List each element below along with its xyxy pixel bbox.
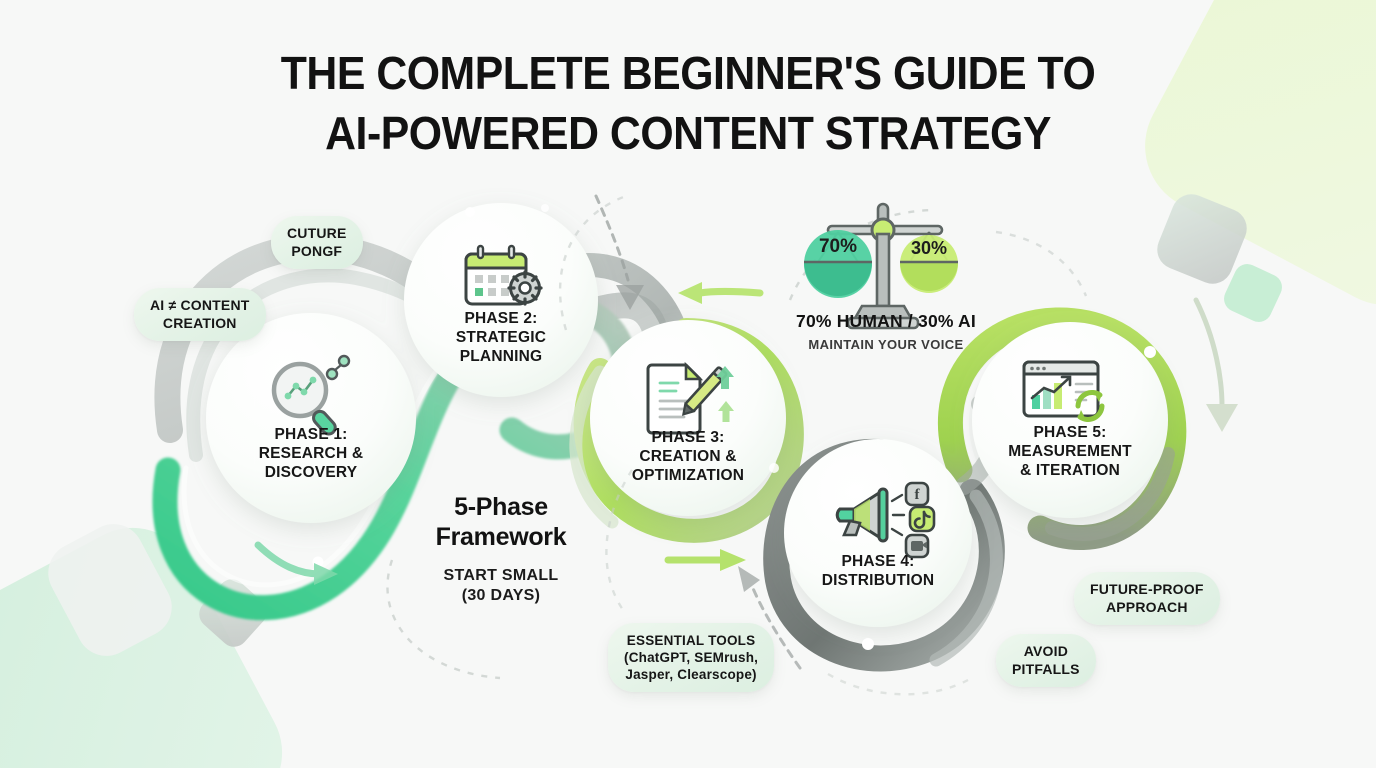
calendar-gear-icon <box>466 246 541 304</box>
phase-3-label[interactable]: PHASE 3: CREATION & OPTIMIZATION <box>593 429 783 486</box>
chip-cuture-line-1: CUTURE <box>287 225 347 243</box>
phase-5-line-1: PHASE 5: <box>975 424 1165 443</box>
document-pencil-icon <box>648 365 734 433</box>
chip-cuture-line-2: PONGF <box>287 243 347 261</box>
arrow-right-green <box>258 545 338 585</box>
phase-2-line-2: STRATEGIC <box>406 329 596 348</box>
megaphone-social-icon: f <box>837 483 934 557</box>
chip-tools-line-3: Jasper, Clearscope) <box>624 666 758 683</box>
chip-avoid-line-1: AVOID <box>1012 643 1080 661</box>
phase-3-line-2: CREATION & <box>593 448 783 467</box>
phase-3-line-3: OPTIMIZATION <box>593 467 783 486</box>
framework-caption: 5-Phase Framework START SMALL (30 DAYS) <box>381 492 621 606</box>
chip-ai-not-content[interactable]: AI ≠ CONTENT CREATION <box>134 288 266 341</box>
phase-4-line-2: DISTRIBUTION <box>783 572 973 591</box>
framework-line-1: 5-Phase <box>381 492 621 522</box>
phase-2-line-1: PHASE 2: <box>406 310 596 329</box>
arrow-down-pale-green <box>1196 300 1238 432</box>
scale-caption-sub: MAINTAIN YOUR VOICE <box>736 337 1036 352</box>
arrow-left-lime <box>678 282 760 304</box>
phase-5-label[interactable]: PHASE 5: MEASUREMENT & ITERATION <box>975 424 1165 481</box>
framework-line-2: Framework <box>381 522 621 552</box>
magnifier-data-icon <box>274 356 349 437</box>
chip-avoid-line-2: PITFALLS <box>1012 661 1080 679</box>
page-title: THE COMPLETE BEGINNER'S GUIDE TO AI-POWE… <box>48 44 1328 164</box>
chip-ai-line-1: AI ≠ CONTENT <box>150 297 250 315</box>
title-line-1: THE COMPLETE BEGINNER'S GUIDE TO <box>48 44 1328 104</box>
chip-future-line-1: FUTURE-PROOF <box>1090 581 1204 599</box>
svg-text:f: f <box>915 487 921 503</box>
scale-left-value: 70% <box>819 236 857 257</box>
balance-scale-icon: 70% 30% <box>804 204 958 328</box>
chip-future-proof[interactable]: FUTURE-PROOF APPROACH <box>1074 572 1220 625</box>
infographic-canvas: f <box>0 0 1376 768</box>
chip-tools-line-1: ESSENTIAL TOOLS <box>624 632 758 649</box>
chip-cuture-pongf[interactable]: CUTURE PONGF <box>271 216 363 269</box>
chip-ai-line-2: CREATION <box>150 315 250 333</box>
arrow-right-lime <box>668 549 746 571</box>
chip-essential-tools[interactable]: ESSENTIAL TOOLS (ChatGPT, SEMrush, Jaspe… <box>608 623 774 692</box>
chip-avoid-pitfalls[interactable]: AVOID PITFALLS <box>996 634 1096 687</box>
phase-5-line-3: & ITERATION <box>975 462 1165 481</box>
phase-2-line-3: PLANNING <box>406 348 596 367</box>
phase-1-line-1: PHASE 1: <box>216 426 406 445</box>
phase-4-line-1: PHASE 4: <box>783 553 973 572</box>
phase-1-label[interactable]: PHASE 1: RESEARCH & DISCOVERY <box>216 426 406 483</box>
title-line-2: AI-POWERED CONTENT STRATEGY <box>48 104 1328 164</box>
start-small-line-1: START SMALL <box>381 566 621 586</box>
phase-4-label[interactable]: PHASE 4: DISTRIBUTION <box>783 553 973 591</box>
phase-1-line-2: RESEARCH & <box>216 445 406 464</box>
analytics-refresh-icon <box>1024 362 1102 420</box>
scale-caption-main: 70% HUMAN / 30% AI <box>736 311 1036 332</box>
chip-tools-line-2: (ChatGPT, SEMrush, <box>624 649 758 666</box>
phase-2-label[interactable]: PHASE 2: STRATEGIC PLANNING <box>406 310 596 367</box>
phase-1-line-3: DISCOVERY <box>216 464 406 483</box>
chip-future-line-2: APPROACH <box>1090 599 1204 617</box>
start-small-line-2: (30 DAYS) <box>381 586 621 606</box>
phase-3-line-1: PHASE 3: <box>593 429 783 448</box>
scale-caption: 70% HUMAN / 30% AI MAINTAIN YOUR VOICE <box>736 311 1036 352</box>
arrow-down-dashed-gray <box>596 196 644 310</box>
phase-5-line-2: MEASUREMENT <box>975 443 1165 462</box>
scale-right-value: 30% <box>911 238 947 258</box>
